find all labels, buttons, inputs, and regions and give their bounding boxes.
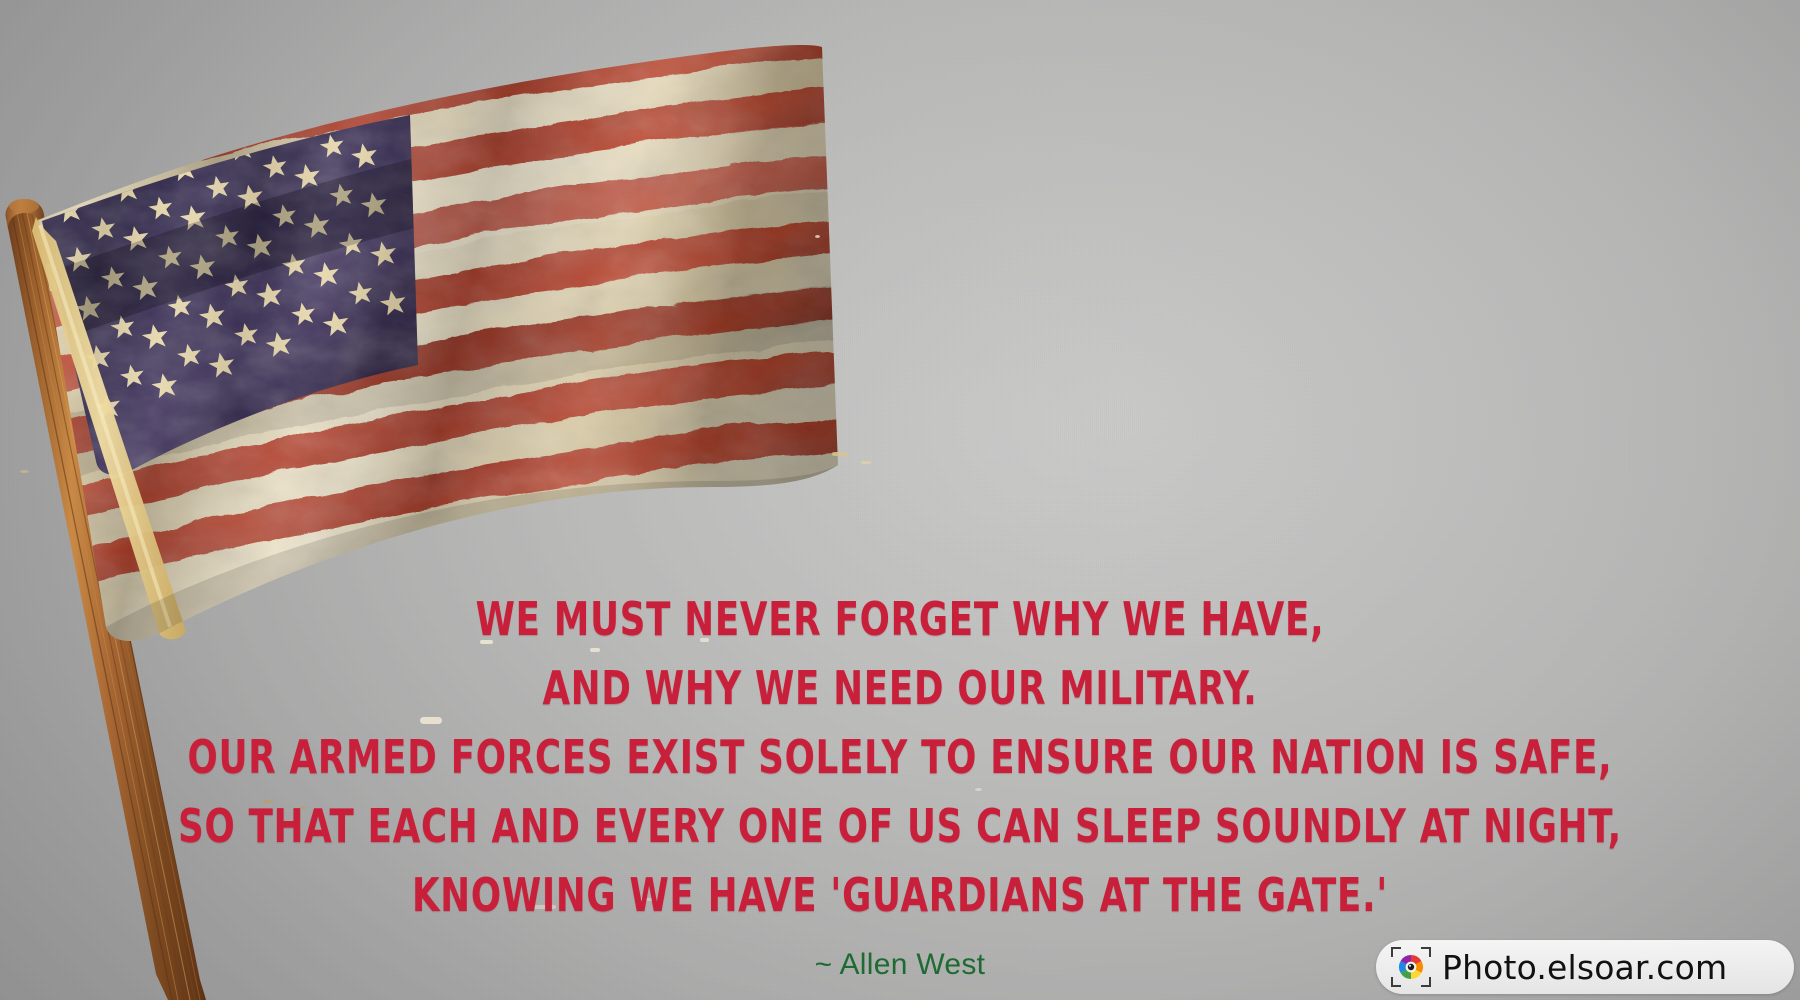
watermark-badge[interactable]: Photo.elsoar.com — [1376, 940, 1794, 994]
quote-line-5: KNOWING WE HAVE 'GUARDIANS AT THE GATE.' — [126, 872, 1674, 918]
quote-text: WE MUST NEVER FORGET WHY WE HAVE, AND WH… — [0, 596, 1800, 941]
quote-line-3: OUR ARMED FORCES EXIST SOLELY TO ENSURE … — [126, 734, 1674, 780]
watermark-text: Photo.elsoar.com — [1442, 948, 1727, 987]
camera-aperture-icon — [1390, 946, 1432, 988]
american-flag — [10, 35, 870, 645]
quote-line-2: AND WHY WE NEED OUR MILITARY. — [126, 665, 1674, 711]
poster-canvas: WE MUST NEVER FORGET WHY WE HAVE, AND WH… — [0, 0, 1800, 1000]
quote-line-1: WE MUST NEVER FORGET WHY WE HAVE, — [126, 596, 1674, 642]
quote-line-4: SO THAT EACH AND EVERY ONE OF US CAN SLE… — [126, 803, 1674, 849]
